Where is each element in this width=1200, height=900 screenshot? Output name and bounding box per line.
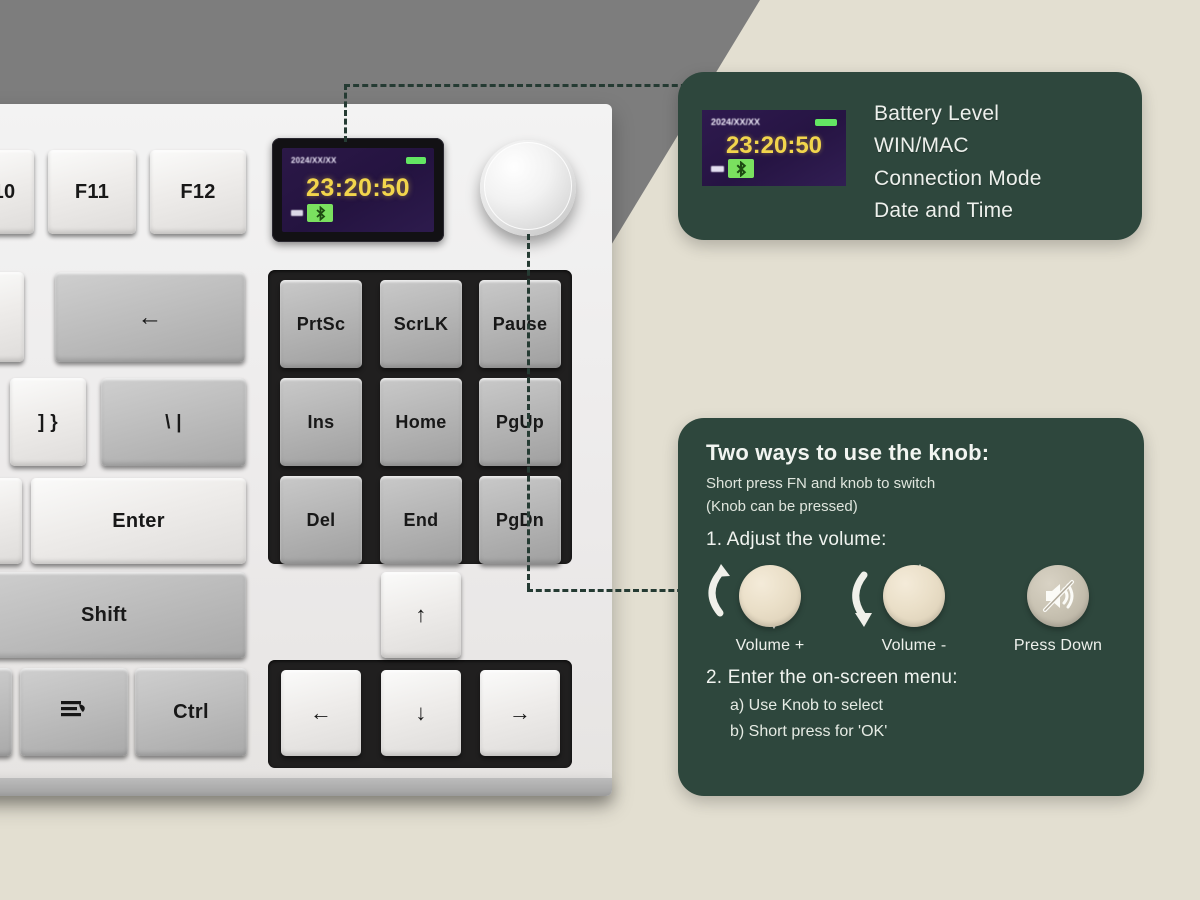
key-ctrl[interactable]: Ctrl [135, 668, 247, 756]
key-backspace[interactable]: ← [55, 272, 245, 362]
callout-line-knob-horizontal [527, 589, 692, 592]
key-label: PgDn [496, 511, 544, 529]
key-label: End [404, 511, 439, 529]
mini-display-date: 2024/XX/XX [711, 117, 760, 127]
key-left-stub-1[interactable] [0, 478, 22, 564]
knob-caption-volume-up: Volume + [716, 637, 824, 655]
arrow-up-key[interactable]: ↑ [381, 572, 461, 658]
knob-graphic-mute [1027, 565, 1089, 627]
display-mode-row [291, 204, 333, 222]
key-end[interactable]: End [380, 476, 462, 564]
knob-caption-press-down: Press Down [1004, 637, 1112, 655]
key-f11[interactable]: F11 [48, 150, 136, 234]
display-time: 23:20:50 [282, 174, 434, 203]
screen-features-card: 2024/XX/XX 23:20:50 Battery Level WIN/MA… [678, 72, 1142, 240]
feature-item-battery: Battery Level [874, 98, 1126, 130]
feature-item-datetime: Date and Time [874, 195, 1126, 227]
device-display-surface: 2024/XX/XX 23:20:50 [282, 148, 434, 232]
knob-caption-volume-down: Volume - [860, 637, 968, 655]
knob-card-subtitle-line2: (Knob can be pressed) [706, 497, 1124, 518]
key-del[interactable]: Del [280, 476, 362, 564]
knob-substep-a: a) Use Knob to select [730, 697, 1124, 715]
key-label: Ins [308, 413, 335, 431]
key-pgdn[interactable]: PgDn [479, 476, 561, 564]
mini-display-time: 23:20:50 [702, 132, 846, 160]
key-pause[interactable]: Pause [479, 280, 561, 368]
knob-action-row: Volume + Volume - [716, 565, 1124, 655]
key-backslash[interactable]: \ | [101, 378, 246, 466]
key-label: Del [307, 511, 336, 529]
key-bracket-right[interactable]: ] } [10, 378, 86, 466]
key-label: ScrLK [394, 315, 449, 333]
key-ins[interactable]: Ins [280, 378, 362, 466]
arrow-down-key[interactable]: ↓ [381, 670, 461, 756]
feature-item-winmac: WIN/MAC [874, 130, 1126, 162]
rotary-knob-top [484, 142, 572, 230]
key-label: ↑ [415, 604, 426, 626]
mini-display-mode-row [711, 159, 754, 178]
key-enter[interactable]: Enter [31, 478, 246, 564]
key-label: ] } [38, 413, 58, 432]
rotary-knob[interactable] [480, 140, 576, 236]
key-label: 10 [0, 182, 15, 202]
key-label: Enter [112, 511, 165, 531]
card-mini-display: 2024/XX/XX 23:20:50 [702, 110, 846, 186]
arrow-right-key[interactable]: → [480, 670, 560, 756]
knob-card-subtitle-line1: Short press FN and knob to switch [706, 474, 1124, 495]
key-pgup[interactable]: PgUp [479, 378, 561, 466]
key-star[interactable]: ✦ [0, 272, 24, 362]
callout-line-screen-vertical [344, 84, 347, 142]
key-f10[interactable]: 10 [0, 150, 34, 234]
mute-speaker-icon [1037, 575, 1079, 617]
bluetooth-icon [307, 204, 333, 222]
key-label: ↓ [415, 702, 426, 724]
key-label: Ctrl [173, 702, 209, 722]
mini-bluetooth-icon [728, 159, 754, 178]
key-label: \ | [165, 413, 182, 432]
scene: 10 F11 F12 ✦ ← ] } \ | Enter Shift [0, 0, 1200, 900]
callout-line-knob-vertical [527, 234, 530, 589]
battery-icon [406, 157, 426, 164]
display-date: 2024/XX/XX [291, 156, 337, 165]
signal-dots-icon [291, 210, 303, 216]
callout-line-screen-horizontal [344, 84, 696, 87]
key-prtsc[interactable]: PrtSc [280, 280, 362, 368]
key-label: Pause [493, 315, 548, 333]
knob-step-1: 1. Adjust the volume: [706, 529, 1124, 551]
arrow-left-key[interactable]: ← [281, 670, 361, 756]
knob-substep-b: b) Short press for 'OK' [730, 723, 1124, 741]
key-label: Shift [81, 605, 127, 625]
key-label: F12 [180, 182, 215, 202]
device-display[interactable]: 2024/XX/XX 23:20:50 [272, 138, 444, 242]
knob-graphic [739, 565, 801, 627]
knob-usage-card: Two ways to use the knob: Short press FN… [678, 418, 1144, 796]
key-label: PrtSc [297, 315, 346, 333]
key-label: F11 [75, 182, 109, 202]
feature-item-connection: Connection Mode [874, 163, 1126, 195]
key-label: ← [310, 702, 332, 724]
knob-step-2: 2. Enter the on-screen menu: [706, 667, 1124, 689]
knob-action-volume-down: Volume - [860, 565, 968, 655]
key-home[interactable]: Home [380, 378, 462, 466]
key-label: PgUp [496, 413, 544, 431]
knob-graphic [883, 565, 945, 627]
mini-signal-dots-icon [711, 166, 724, 172]
key-label: → [509, 702, 531, 724]
mini-battery-icon [815, 119, 837, 126]
key-label: ← [137, 305, 162, 330]
knob-action-press-down: Press Down [1004, 565, 1112, 655]
menu-icon [59, 698, 89, 726]
key-left-stub-2[interactable] [0, 668, 12, 756]
screen-feature-list: Battery Level WIN/MAC Connection Mode Da… [874, 98, 1126, 227]
key-shift[interactable]: Shift [0, 572, 246, 658]
knob-action-volume-up: Volume + [716, 565, 824, 655]
knob-card-title: Two ways to use the knob: [706, 440, 1124, 466]
key-scrlk[interactable]: ScrLK [380, 280, 462, 368]
key-f12[interactable]: F12 [150, 150, 246, 234]
key-menu[interactable] [20, 668, 128, 756]
key-label: Home [395, 413, 446, 431]
keyboard-front-bevel [0, 778, 612, 796]
